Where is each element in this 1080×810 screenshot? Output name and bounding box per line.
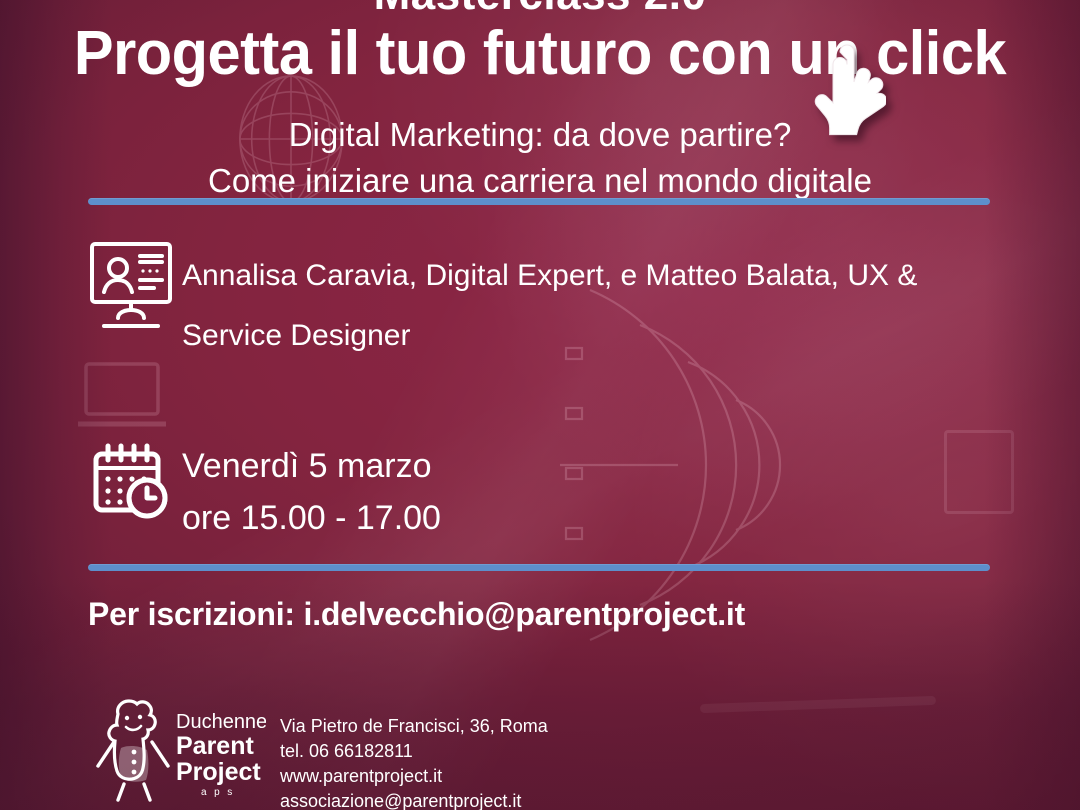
contact-phone: tel. 06 66182811 [280, 739, 548, 764]
contact-address: Via Pietro de Francisci, 36, Roma [280, 714, 548, 739]
divider-top [88, 198, 990, 205]
subtitle-line-1: Digital Marketing: da dove partire? [0, 112, 1080, 158]
event-time: ore 15.00 - 17.00 [182, 492, 441, 544]
date-time-text: Venerdì 5 marzo ore 15.00 - 17.00 [182, 438, 441, 544]
duchenne-child-drawing-logo-mark [98, 701, 168, 800]
subtitle: Digital Marketing: da dove partire? Come… [0, 112, 1080, 204]
eyebrow-title: Masterclass 2.0 [0, 0, 1080, 20]
date-time-row: Venerdì 5 marzo ore 15.00 - 17.00 [88, 438, 788, 544]
footer: Duchenne Parent Project a p s Via Pietro… [88, 696, 548, 810]
poster-content: Masterclass 2.0 Progetta il tuo futuro c… [0, 0, 1080, 810]
duchenne-parent-project-logo: Duchenne Parent Project a p s [88, 696, 266, 802]
divider-bottom [88, 564, 990, 571]
contact-website[interactable]: www.parentproject.it [280, 764, 548, 789]
signup-line: Per iscrizioni: i.delvecchio@parentproje… [88, 596, 745, 633]
contact-block: Via Pietro de Francisci, 36, Roma tel. 0… [280, 696, 548, 810]
logo-line-4: a p s [201, 787, 235, 798]
page-title: Progetta il tuo futuro con un click [22, 20, 1059, 88]
speakers-row: Annalisa Caravia, Digital Expert, e Matt… [88, 240, 998, 366]
logo-line-3: Project [176, 758, 261, 786]
event-date: Venerdì 5 marzo [182, 440, 441, 492]
calendar-clock-icon [88, 438, 182, 522]
speakers-text: Annalisa Caravia, Digital Expert, e Matt… [182, 240, 972, 366]
logo-line-2: Parent [176, 732, 254, 760]
event-poster: Masterclass 2.0 Progetta il tuo futuro c… [0, 0, 1080, 810]
webinar-monitor-presenter-icon [88, 240, 182, 332]
contact-email[interactable]: associazione@parentproject.it [280, 789, 548, 810]
logo-line-1: Duchenne [176, 711, 266, 733]
